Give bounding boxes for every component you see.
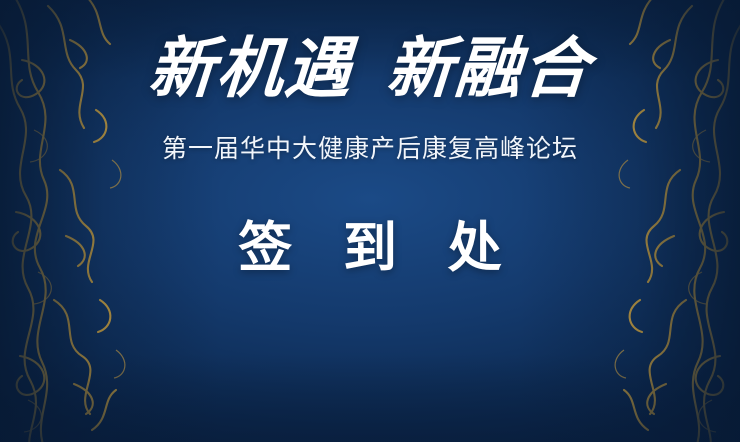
headline: 新机遇 新融合: [149, 34, 591, 103]
headline-part-2: 新融合: [385, 34, 594, 103]
poster-content: 新机遇 新融合 第一届华中大健康产后康复高峰论坛 签 到 处: [0, 0, 740, 442]
event-subtitle: 第一届华中大健康产后康复高峰论坛: [162, 129, 578, 165]
signin-poster: 新机遇 新融合 第一届华中大健康产后康复高峰论坛 签 到 处: [0, 0, 740, 442]
main-title: 签 到 处: [222, 203, 518, 282]
headline-part-1: 新机遇: [147, 34, 356, 103]
